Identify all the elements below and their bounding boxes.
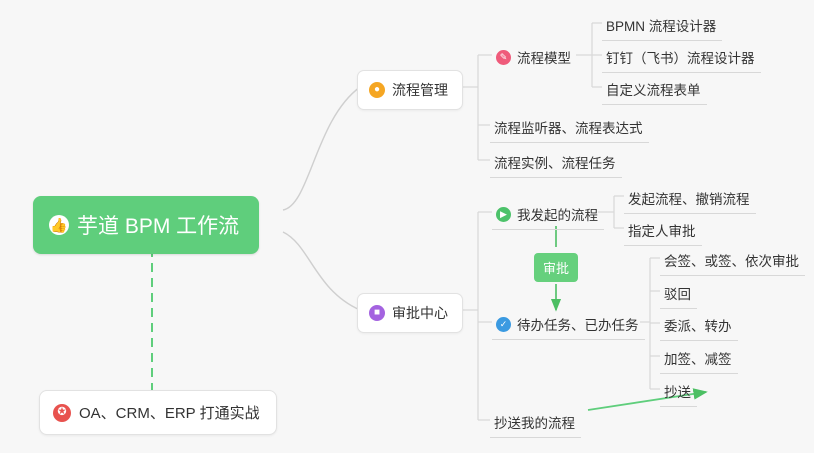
link-root-to-approval-center bbox=[283, 232, 360, 310]
node-bpmn-designer[interactable]: BPMN 流程设计器 bbox=[602, 11, 722, 41]
node-my-initiated-label: 我发起的流程 bbox=[517, 204, 598, 224]
node-cc-to-me-label: 抄送我的流程 bbox=[494, 412, 575, 432]
node-my-initiated[interactable]: ▶ 我发起的流程 bbox=[492, 200, 604, 230]
tag-approval[interactable]: 审批 bbox=[534, 253, 578, 282]
location-pin-icon: ● bbox=[369, 82, 385, 98]
node-custom-form[interactable]: 自定义流程表单 bbox=[602, 75, 707, 105]
node-dingtalk-designer-label: 钉钉（飞书）流程设计器 bbox=[606, 47, 755, 67]
callout-integration-label: OA、CRM、ERP 打通实战 bbox=[79, 402, 260, 423]
node-start-cancel-label: 发起流程、撤销流程 bbox=[628, 188, 750, 208]
node-cc[interactable]: 抄送 bbox=[660, 377, 697, 407]
node-start-cancel[interactable]: 发起流程、撤销流程 bbox=[624, 184, 756, 214]
node-cc-to-me[interactable]: 抄送我的流程 bbox=[490, 408, 581, 438]
node-reject[interactable]: 驳回 bbox=[660, 279, 697, 309]
node-listener-expression[interactable]: 流程监听器、流程表达式 bbox=[490, 113, 649, 143]
node-countersign-label: 会签、或签、依次审批 bbox=[664, 250, 799, 270]
star-circle-icon: ✪ bbox=[53, 404, 71, 422]
node-delegate-transfer-label: 委派、转办 bbox=[664, 315, 732, 335]
node-assign-approver[interactable]: 指定人审批 bbox=[624, 216, 702, 246]
node-delegate-transfer[interactable]: 委派、转办 bbox=[660, 311, 738, 341]
root-node[interactable]: 👍 芋道 BPM 工作流 bbox=[33, 196, 259, 254]
node-dingtalk-designer[interactable]: 钉钉（飞书）流程设计器 bbox=[602, 43, 761, 73]
node-process-model[interactable]: ✎ 流程模型 bbox=[492, 43, 577, 72]
node-cc-label: 抄送 bbox=[664, 381, 691, 401]
node-instance-task-label: 流程实例、流程任务 bbox=[494, 152, 616, 172]
node-add-remove-sign[interactable]: 加签、减签 bbox=[660, 344, 738, 374]
root-node-label: 芋道 BPM 工作流 bbox=[77, 210, 239, 240]
tag-approval-label: 审批 bbox=[543, 261, 569, 276]
callout-integration[interactable]: ✪ OA、CRM、ERP 打通实战 bbox=[39, 390, 277, 435]
send-circle-icon: ▶ bbox=[496, 207, 511, 222]
node-todo-done-task-label: 待办任务、已办任务 bbox=[517, 314, 639, 334]
mindmap-canvas: 👍 芋道 BPM 工作流 ● 流程管理 ✎ 流程模型 BPMN 流程设计器 钉钉… bbox=[0, 0, 814, 453]
node-approval-center[interactable]: ■ 审批中心 bbox=[357, 293, 463, 333]
node-assign-approver-label: 指定人审批 bbox=[628, 220, 696, 240]
node-countersign[interactable]: 会签、或签、依次审批 bbox=[660, 246, 805, 276]
node-approval-center-label: 审批中心 bbox=[392, 303, 448, 323]
node-listener-expression-label: 流程监听器、流程表达式 bbox=[494, 117, 643, 137]
node-flow-management[interactable]: ● 流程管理 bbox=[357, 70, 463, 110]
node-process-model-label: 流程模型 bbox=[517, 47, 571, 67]
edit-circle-icon: ✎ bbox=[496, 50, 511, 65]
node-bpmn-designer-label: BPMN 流程设计器 bbox=[606, 15, 716, 35]
link-root-to-flow-management bbox=[283, 87, 360, 210]
node-flow-management-label: 流程管理 bbox=[392, 80, 448, 100]
thumbs-up-icon: 👍 bbox=[49, 215, 69, 235]
node-reject-label: 驳回 bbox=[664, 283, 691, 303]
node-instance-task[interactable]: 流程实例、流程任务 bbox=[490, 148, 622, 178]
node-add-remove-sign-label: 加签、减签 bbox=[664, 348, 732, 368]
check-circle-icon: ✓ bbox=[496, 317, 511, 332]
node-custom-form-label: 自定义流程表单 bbox=[606, 79, 701, 99]
clipboard-circle-icon: ■ bbox=[369, 305, 385, 321]
node-todo-done-task[interactable]: ✓ 待办任务、已办任务 bbox=[492, 310, 645, 340]
